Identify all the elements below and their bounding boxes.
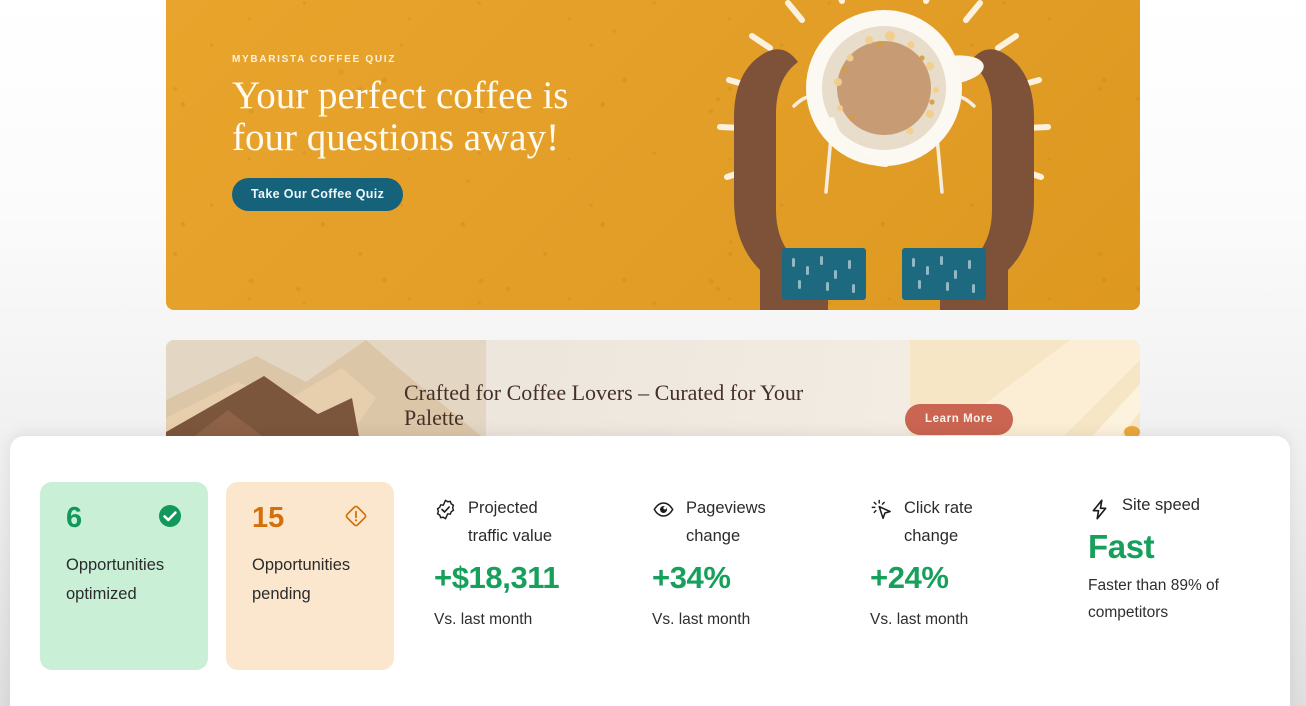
lightning-bolt-icon (1088, 498, 1111, 526)
metric-note: Vs. last month (870, 606, 1088, 633)
opportunities-pending-label: Opportunities pending (252, 551, 374, 609)
metric-site-speed: Site speed Fast Faster than 89% of compe… (1088, 482, 1288, 626)
metric-note: Faster than 89% of competitors (1088, 572, 1288, 626)
metric-title: Click rate change (904, 494, 973, 550)
opportunities-pending-count: 15 (252, 504, 284, 533)
hero-text-block: MYBARISTA COFFEE QUIZ Your perfect coffe… (232, 54, 568, 211)
page-root: MYBARISTA COFFEE QUIZ Your perfect coffe… (0, 0, 1306, 706)
hero-eyebrow: MYBARISTA COFFEE QUIZ (232, 54, 568, 65)
metrics-row: 6 Opportunities optimized 15 (40, 482, 1288, 670)
metric-click-rate-change: Click rate change +24% Vs. last month (870, 482, 1088, 633)
metric-pageviews-change: Pageviews change +34% Vs. last month (652, 482, 870, 633)
metric-projected-traffic-value: Projected traffic value +$18,311 Vs. las… (434, 482, 652, 633)
opportunities-optimized-head: 6 (66, 504, 188, 533)
click-cursor-icon (870, 498, 893, 526)
metric-head: Pageviews change (652, 494, 870, 550)
opportunities-pending-card[interactable]: 15 Opportunities pending (226, 482, 394, 670)
hero-banner[interactable]: MYBARISTA COFFEE QUIZ Your perfect coffe… (166, 0, 1140, 310)
metric-head: Site speed (1088, 494, 1288, 526)
metric-title: Projected traffic value (468, 494, 552, 550)
take-coffee-quiz-button[interactable]: Take Our Coffee Quiz (232, 178, 403, 211)
promo-title: Crafted for Coffee Lovers – Curated for … (404, 380, 824, 430)
metric-head: Click rate change (870, 494, 1088, 550)
verified-badge-icon (434, 498, 457, 526)
opportunities-optimized-label: Opportunities optimized (66, 551, 188, 609)
metric-title: Site speed (1122, 494, 1200, 516)
metric-head: Projected traffic value (434, 494, 652, 550)
learn-more-button[interactable]: Learn More (905, 404, 1013, 435)
eye-icon (652, 498, 675, 526)
opportunities-optimized-card[interactable]: 6 Opportunities optimized (40, 482, 208, 670)
opportunities-pending-head: 15 (252, 504, 374, 533)
metric-value: +$18,311 (434, 560, 652, 596)
metric-value: Fast (1088, 528, 1288, 566)
metric-note: Vs. last month (434, 606, 652, 633)
check-circle-icon (158, 504, 182, 533)
hero-title: Your perfect coffee is four questions aw… (232, 75, 568, 159)
opportunities-optimized-count: 6 (66, 504, 82, 533)
metric-note: Vs. last month (652, 606, 870, 633)
metric-value: +24% (870, 560, 1088, 596)
coffee-cup-in-hands-illustration (694, 0, 1074, 310)
metric-value: +34% (652, 560, 870, 596)
metric-title: Pageviews change (686, 494, 766, 550)
warning-diamond-icon (344, 504, 368, 533)
metrics-panel: 6 Opportunities optimized 15 (10, 436, 1290, 706)
